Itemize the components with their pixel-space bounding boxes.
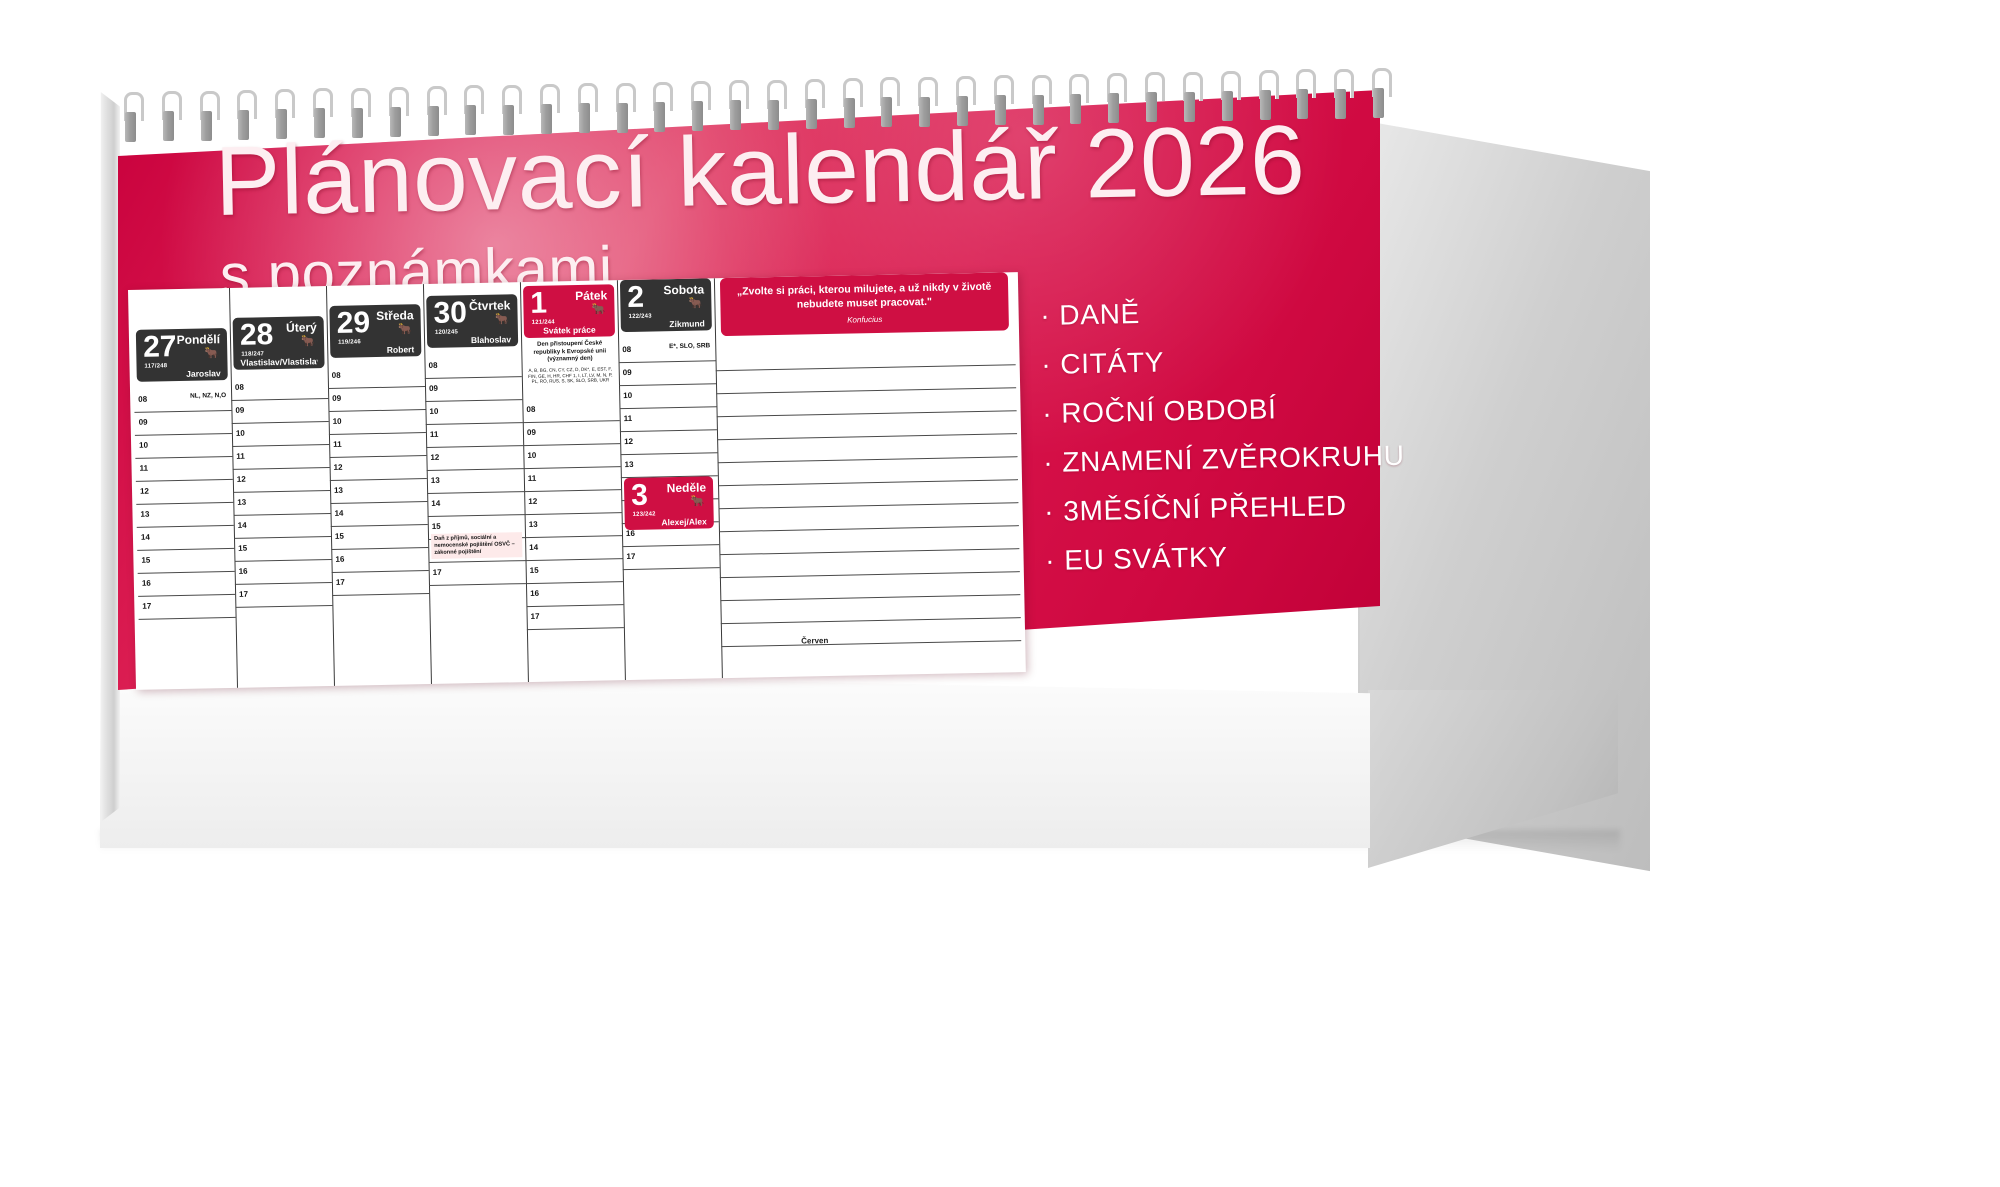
spiral-coil [1372,68,1386,126]
spiral-coil [1069,74,1083,132]
hour-row[interactable]: 14 [427,492,524,517]
spiral-coil [540,84,554,142]
hour-label: 12 [528,497,537,506]
feature-item: ·ZNAMENÍ ZVĚROKRUHU [1043,440,1404,479]
hour-row[interactable]: 12 [524,490,621,515]
hour-label: 12 [334,463,343,472]
hour-row[interactable]: 10 [328,410,425,435]
taurus-icon: 🐂 [592,304,606,315]
spiral-coil [427,86,441,144]
hour-label: 15 [335,532,344,541]
feature-item: ·3MĚSÍČNÍ PŘEHLED [1044,489,1405,528]
calendar-grid: 27117/248Pondělí🐂Jaroslav08NL, NZ, N,O09… [128,272,1026,690]
quote-text: „Zvolte si práci, kterou milujete, a už … [730,281,999,314]
hour-label: 13 [625,460,634,469]
hour-label: 16 [530,589,539,598]
taurus-icon: 🐂 [689,298,703,309]
day-of-week-label: Pátek [575,288,607,303]
spiral-coil [956,76,970,134]
hour-row[interactable]: 16 [526,582,623,607]
quote-box: „Zvolte si práci, kterou milujete, a už … [720,272,1009,335]
hour-label: 14 [141,533,150,542]
day-header[interactable]: 1121/244Pátek🐂Svátek práce [523,284,615,338]
name-day-label: Svátek práce [531,324,608,336]
hour-rows: 08091011121314151617 [231,376,333,608]
day-of-week-label: Středa [376,308,414,323]
hour-label: 08 [138,395,147,404]
name-day-label: Zikmund [628,318,705,330]
calendar-left-edge [96,92,120,822]
hour-label: 16 [335,555,344,564]
feature-item-label: EU SVÁTKY [1064,541,1228,575]
spiral-coil [1032,75,1046,133]
hour-label: 17 [336,578,345,587]
hour-label: 14 [431,499,440,508]
hour-row[interactable]: 17 [429,561,526,586]
feature-item-label: DANĚ [1059,298,1140,331]
hour-label: 15 [141,556,150,565]
taurus-icon: 🐂 [495,314,509,325]
hour-label: 15 [530,566,539,575]
spiral-coil [918,77,932,135]
name-day-label: Blahoslav [434,334,511,346]
day-note: NL, NZ, N,O [190,392,226,400]
hour-label: 14 [334,509,343,518]
taurus-icon: 🐂 [301,336,315,347]
spiral-coil [502,85,516,143]
hour-row[interactable]: 13 [330,479,427,504]
hour-label: 08 [235,383,244,392]
hour-label: 10 [236,429,245,438]
hour-row[interactable]: 17 [235,583,332,608]
hour-label: 12 [237,475,246,484]
hour-label: 17 [433,568,442,577]
spiral-coil [578,83,592,141]
taurus-icon: 🐂 [691,496,705,507]
hour-rows: 08NL, NZ, N,O091011121314151617 [134,388,236,620]
calendar-day-column[interactable]: 27117/248Pondělí🐂Jaroslav08NL, NZ, N,O09… [132,288,238,690]
hour-row[interactable]: 08 [328,364,425,389]
hour-label: 13 [140,510,149,519]
day-note-top: E*, SLO, SRB [669,342,710,350]
bullet-dot-icon: · [1042,398,1053,429]
country-codes: A, B, BG, CN, CY, CZ, D, DK*, E, EST, F,… [525,366,616,385]
hour-row[interactable]: 11 [619,407,716,432]
hour-row[interactable]: 15 [234,537,331,562]
spiral-coil [653,82,667,140]
day-header[interactable]: 2122/243Sobota🐂Zikmund [620,278,712,332]
hour-row[interactable]: 09 [328,387,425,412]
spiral-coil [124,92,138,150]
spiral-binding [118,66,1386,136]
spiral-coil [237,90,251,148]
day-of-week-label: Neděle [667,480,707,495]
hour-row[interactable]: 08NL, NZ, N,O [134,388,231,413]
spiral-coil [1145,72,1159,130]
hour-label: 10 [429,407,438,416]
hour-row[interactable]: 11 [426,423,523,448]
day-header[interactable]: 28118/247Úterý🐂Vlastislav/Vlastislava [233,316,325,370]
day-number: 28 [240,320,274,351]
spiral-coil [389,87,403,145]
hour-row[interactable]: 08 [231,376,328,401]
feature-item: ·ROČNÍ OBDOBÍ [1042,391,1403,430]
calendar-day-column[interactable]: 1121/244Pátek🐂Svátek práceDen přistoupen… [520,280,626,682]
hour-label: 13 [334,486,343,495]
hour-row[interactable]: 11 [524,467,621,492]
note-line[interactable] [721,618,1021,647]
hour-label: 11 [624,414,633,423]
spiral-coil [616,83,630,141]
spiral-coil [1183,72,1197,130]
hour-label: 17 [239,590,248,599]
hour-rows: 08091011121314151617 [522,398,624,630]
day-of-week-label: Pondělí [177,332,221,347]
hour-label: 11 [139,464,148,473]
hour-row[interactable]: 12 [233,468,330,493]
hour-row[interactable]: 14 [137,526,234,551]
hour-row[interactable]: 13 [136,503,233,528]
name-day-label: Jaroslav [144,368,221,380]
hour-row[interactable]: 10 [523,444,620,469]
hour-row[interactable]: 15 [526,559,623,584]
hour-label: 12 [430,453,439,462]
hour-label: 09 [235,406,244,415]
hour-label: 17 [142,602,151,611]
hour-row[interactable]: 11 [329,433,426,458]
hour-label: 12 [140,487,149,496]
day-number: 27 [143,332,177,363]
taurus-icon: 🐂 [204,348,218,359]
hour-label: 08 [622,345,631,354]
spiral-coil [843,78,857,136]
hour-row[interactable]: 17 [622,545,719,570]
calendar-day-column[interactable]: 30120/245Čtvrtek🐂Blahoslav08091011121314… [423,282,529,684]
hour-label: 16 [239,567,248,576]
day-number: 1 [530,289,547,319]
calendar-day-column[interactable]: 28118/247Úterý🐂Vlastislav/Vlastislava080… [229,286,335,688]
name-day-label: Vlastislav/Vlastislava [240,356,317,368]
product-photo-stage: Plánovací kalendář 2026 s poznámkami ·DA… [0,0,2000,1187]
notes-column[interactable]: „Zvolte si práci, kterou milujete, a už … [714,272,1022,678]
day-header[interactable]: 29119/246Středa🐂Robert [329,304,421,358]
bullet-dot-icon: · [1044,496,1055,527]
day-number: 3 [631,481,648,511]
hour-label: 08 [332,371,341,380]
hour-row[interactable]: 13 [620,453,717,478]
day-number: 29 [336,308,370,339]
day-header[interactable]: 3123/242Neděle🐂Alexej/Alex [624,476,714,530]
day-number: 30 [433,298,467,329]
spiral-coil [1334,69,1348,127]
hour-label: 13 [237,498,246,507]
name-day-label: Alexej/Alex [632,516,707,528]
hour-label: 08 [428,361,437,370]
day-of-week-label: Sobota [663,282,704,297]
calendar-base-front [100,668,1370,848]
day-of-week-label: Úterý [286,320,317,335]
spiral-coil [1221,71,1235,129]
spiral-coil [994,75,1008,133]
hour-label: 14 [529,543,538,552]
name-day-label: Robert [337,344,414,356]
hour-row[interactable]: 09 [425,377,522,402]
spiral-coil [1107,73,1121,131]
feature-item: ·DANĚ [1040,293,1401,332]
hour-row[interactable]: 14 [525,536,622,561]
hour-label: 10 [527,451,536,460]
bullet-dot-icon: · [1040,300,1051,331]
hour-label: 17 [531,612,540,621]
taurus-icon: 🐂 [398,324,412,335]
hour-row[interactable]: 11 [232,445,329,470]
hour-row[interactable]: 16 [331,548,428,573]
hour-row[interactable]: 12 [620,430,717,455]
hour-row[interactable]: 14 [330,502,427,527]
spiral-coil [805,79,819,137]
hour-row[interactable]: 17 [138,595,235,620]
hour-label: 15 [238,544,247,553]
feature-item: ·EU SVÁTKY [1045,538,1406,577]
feature-item-label: ZNAMENÍ ZVĚROKRUHU [1062,440,1405,478]
hour-row[interactable]: 10 [232,422,329,447]
spiral-coil [275,89,289,147]
event-note: Den přistoupení České republiky k Evrops… [524,340,615,364]
hour-label: 11 [333,440,342,449]
hour-row[interactable]: 17 [332,571,429,596]
calendar-page: 27117/248Pondělí🐂Jaroslav08NL, NZ, N,O09… [128,272,1026,690]
spiral-coil [880,77,894,135]
hour-row[interactable]: 13 [427,469,524,494]
feature-item: ·CITÁTY [1041,342,1402,381]
spiral-coil [729,80,743,138]
hour-label: 09 [429,384,438,393]
spiral-coil [1259,70,1273,128]
spiral-coil [767,80,781,138]
hour-row[interactable]: 15 [331,525,428,550]
hour-row[interactable]: 17 [526,605,623,630]
tax-deadline-note: Daň z příjmů, sociální a nemocenské poji… [431,532,522,559]
bullet-dot-icon: · [1045,545,1056,576]
hour-label: 15 [432,522,441,531]
bullet-dot-icon: · [1043,447,1054,478]
spiral-coil [200,91,214,149]
hour-row[interactable]: 09 [523,421,620,446]
hour-row[interactable]: 13 [233,491,330,516]
hour-label: 11 [528,474,537,483]
feature-item-label: CITÁTY [1060,347,1164,380]
day-header[interactable]: 27117/248Pondělí🐂Jaroslav [136,328,228,382]
hour-label: 08 [526,405,535,414]
hour-label: 12 [624,437,633,446]
spiral-coil [464,85,478,143]
hour-row[interactable]: 11 [135,457,232,482]
spiral-coil [1296,69,1310,127]
hour-label: 10 [139,441,148,450]
hour-rows: 08091011121314151617 [328,364,430,596]
hour-row[interactable]: 16 [138,572,235,597]
hour-label: 11 [430,430,439,439]
hour-label: 13 [529,520,538,529]
hour-row[interactable]: 10 [425,400,522,425]
calendar-day-column[interactable]: 29119/246Středa🐂Robert080910111213141516… [326,284,432,686]
hour-row[interactable]: 13 [525,513,622,538]
spiral-coil [351,88,365,146]
hour-row[interactable]: 08E*, SLO, SRB [618,338,715,363]
hour-label: 09 [527,428,536,437]
hour-label: 09 [623,368,632,377]
hour-row[interactable]: 09 [619,361,716,386]
feature-item-label: 3MĚSÍČNÍ PŘEHLED [1063,490,1347,527]
hour-row[interactable]: 08 [522,398,619,423]
hour-label: 09 [139,418,148,427]
hour-label: 16 [142,579,151,588]
hour-row[interactable]: 12 [426,446,523,471]
month-label: Červen [801,636,828,646]
hour-row[interactable]: 08 [424,354,521,379]
hour-row[interactable]: 15 [137,549,234,574]
hour-label: 14 [238,521,247,530]
bullet-dot-icon: · [1041,349,1052,380]
hour-row[interactable]: 12 [329,456,426,481]
hour-label: 10 [623,391,632,400]
day-of-week-label: Čtvrtek [469,298,511,313]
spiral-coil [313,88,327,146]
hour-row[interactable]: 09 [134,411,231,436]
spiral-coil [162,91,176,149]
hour-label: 16 [626,529,635,538]
day-number: 2 [627,283,644,313]
hour-row[interactable]: 12 [136,480,233,505]
hour-label: 13 [431,476,440,485]
quote-author: Konfucius [731,312,999,326]
hour-row[interactable]: 10 [619,384,716,409]
feature-item-label: ROČNÍ OBDOBÍ [1061,393,1277,428]
hour-row[interactable]: 09 [231,399,328,424]
hour-label: 17 [626,552,635,561]
hour-label: 09 [332,394,341,403]
hour-label: 11 [236,452,245,461]
note-lines[interactable] [715,342,1021,647]
hour-rows: 08E*, SLO, SRB09101112131415J, LT, PL161… [618,338,720,570]
spiral-coil [691,81,705,139]
hour-row[interactable]: 10 [135,434,232,459]
hour-row[interactable]: 16 [234,560,331,585]
hour-label: 10 [333,417,342,426]
feature-list: ·DANĚ·CITÁTY·ROČNÍ OBDOBÍ·ZNAMENÍ ZVĚROK… [1040,293,1406,594]
day-header[interactable]: 30120/245Čtvrtek🐂Blahoslav [426,294,518,348]
hour-row[interactable]: 14 [234,514,331,539]
